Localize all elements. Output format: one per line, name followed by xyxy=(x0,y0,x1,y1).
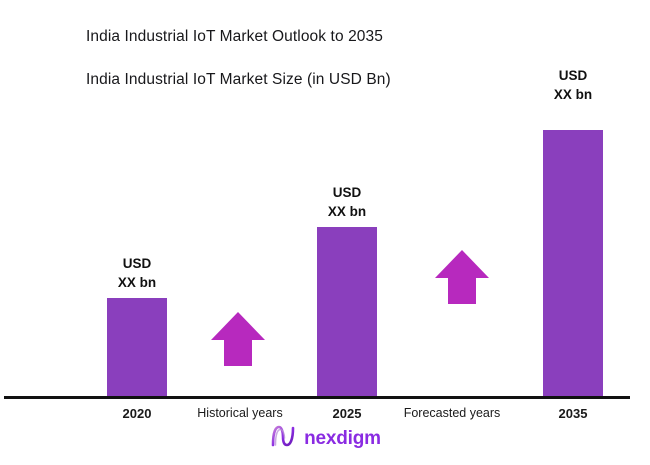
bar-label-2035: USD XX bn xyxy=(513,66,633,104)
bar-2025[interactable] xyxy=(317,227,377,398)
axis-tick-historical-years: Historical years xyxy=(173,406,307,420)
growth-arrow-historical xyxy=(207,308,269,370)
bar-label-2025: USD XX bn xyxy=(287,183,407,221)
bar-label-2025-line2: XX bn xyxy=(287,202,407,221)
bar-2035[interactable] xyxy=(543,130,603,398)
axis-tick-2035: 2035 xyxy=(523,406,623,421)
axis-tick-2025: 2025 xyxy=(297,406,397,421)
bar-label-2020: USD XX bn xyxy=(77,254,197,292)
axis-tick-forecasted-years: Forecasted years xyxy=(385,406,519,420)
bar-label-2020-line1: USD xyxy=(77,254,197,273)
bar-label-2035-line2: XX bn xyxy=(513,85,633,104)
bar-label-2020-line2: XX bn xyxy=(77,273,197,292)
plot-area: USD XX bn USD XX bn USD XX bn xyxy=(0,0,650,465)
chart-canvas: India Industrial IoT Market Outlook to 2… xyxy=(0,0,650,465)
brand-name: nexdigm xyxy=(304,429,381,448)
bar-2020[interactable] xyxy=(107,298,167,398)
axis-tick-2020: 2020 xyxy=(87,406,187,421)
x-axis-line xyxy=(4,396,630,399)
brand-logo: nexdigm xyxy=(0,424,650,453)
nexdigm-wave-mark-icon xyxy=(269,424,297,453)
bar-label-2025-line1: USD xyxy=(287,183,407,202)
growth-arrow-forecasted xyxy=(431,246,493,308)
bar-label-2035-line1: USD xyxy=(513,66,633,85)
